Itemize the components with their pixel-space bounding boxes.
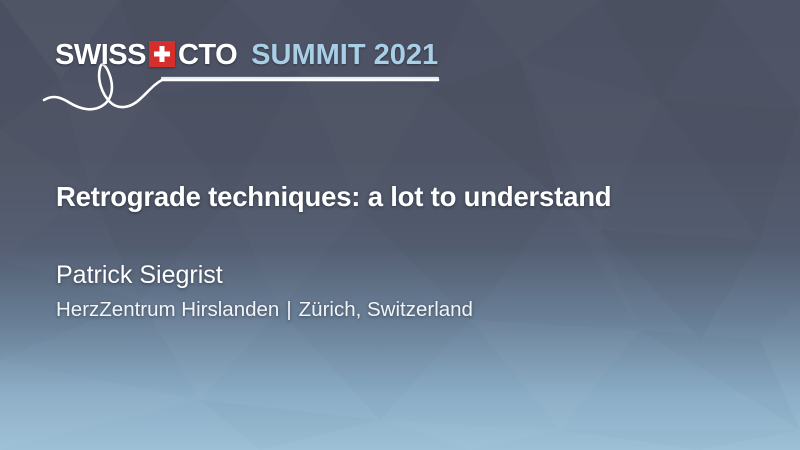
logo-text-cto: CTO bbox=[178, 39, 237, 71]
presenter-affiliation: HerzZentrum Hirslanden|Zürich, Switzerla… bbox=[56, 298, 473, 323]
logo-text-summit: SUMMIT 2021 bbox=[251, 39, 438, 71]
swiss-cross-icon bbox=[149, 41, 175, 67]
logo-wordmark: SWISSCTOSUMMIT 2021 bbox=[55, 41, 438, 70]
title-slide: SWISSCTOSUMMIT 2021 Retrograde technique… bbox=[0, 0, 800, 450]
presenter-institution: HerzZentrum Hirslanden bbox=[56, 298, 279, 321]
affiliation-separator: | bbox=[279, 298, 298, 323]
slide-title: Retrograde techniques: a lot to understa… bbox=[56, 180, 756, 213]
summit-logo-lockup: SWISSCTOSUMMIT 2021 bbox=[0, 0, 460, 130]
presenter-name: Patrick Siegrist bbox=[56, 260, 223, 290]
presenter-location: Zürich, Switzerland bbox=[299, 298, 473, 321]
logo-text-swiss: SWISS bbox=[55, 39, 146, 71]
